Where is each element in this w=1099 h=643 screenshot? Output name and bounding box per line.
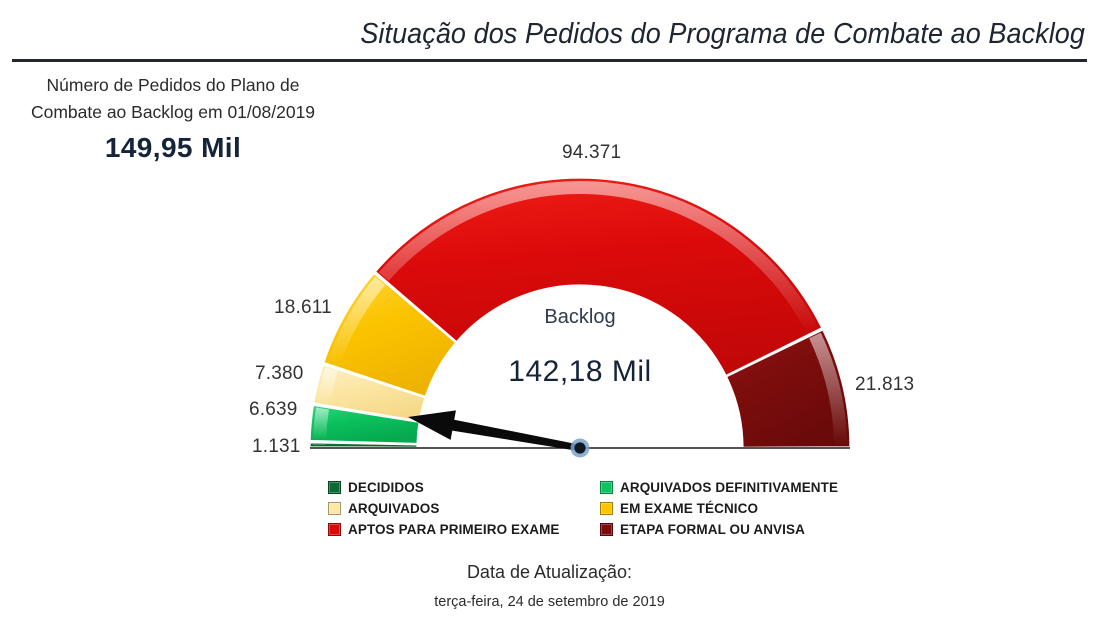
legend-swatch-icon <box>328 502 341 515</box>
gauge-label-arquivados: 7.380 <box>255 363 304 385</box>
gauge-needle <box>408 410 590 457</box>
legend-swatch-icon <box>600 523 613 536</box>
gauge-label-aptos-primeiro-exame: 94.371 <box>562 142 621 164</box>
gauge-hub-inner <box>574 442 585 453</box>
gauge-chart: 1.131 6.639 7.380 18.611 94.371 21.813 B… <box>0 0 1099 520</box>
legend-swatch-icon <box>328 481 341 494</box>
gauge-center-caption: Backlog 142,18 Mil <box>430 305 730 389</box>
legend-label: APTOS PARA PRIMEIRO EXAME <box>348 522 560 537</box>
legend-label: ARQUIVADOS <box>348 501 440 516</box>
legend-item[interactable]: ARQUIVADOS <box>328 499 600 518</box>
legend-swatch-icon <box>328 523 341 536</box>
legend-swatch-icon <box>600 481 613 494</box>
chart-legend: DECIDIDOSARQUIVADOS DEFINITIVAMENTEARQUI… <box>328 478 858 539</box>
footer-update-date: terça-feira, 24 de setembro de 2019 <box>0 594 1099 610</box>
gauge-center-title: Backlog <box>430 305 730 329</box>
gauge-needle-arrow <box>408 410 581 451</box>
legend-label: ARQUIVADOS DEFINITIVAMENTE <box>620 480 838 495</box>
legend-item[interactable]: ARQUIVADOS DEFINITIVAMENTE <box>600 478 858 497</box>
legend-swatch-icon <box>600 502 613 515</box>
gauge-label-arquivados-definitivamente: 6.639 <box>249 399 298 421</box>
gauge-label-etapa-formal-anvisa: 21.813 <box>855 374 914 396</box>
legend-item[interactable]: EM EXAME TÉCNICO <box>600 499 858 518</box>
footer-update-label: Data de Atualização: <box>0 562 1099 583</box>
gauge-label-em-exame-tecnico: 18.611 <box>274 297 332 319</box>
footer-block: Data de Atualização: terça-feira, 24 de … <box>0 562 1099 610</box>
legend-label: EM EXAME TÉCNICO <box>620 501 758 516</box>
legend-label: ETAPA FORMAL OU ANVISA <box>620 522 805 537</box>
gauge-label-decididos: 1.131 <box>252 436 301 458</box>
legend-item[interactable]: APTOS PARA PRIMEIRO EXAME <box>328 520 600 539</box>
legend-item[interactable]: ETAPA FORMAL OU ANVISA <box>600 520 858 539</box>
gauge-svg <box>0 0 1099 520</box>
legend-item[interactable]: DECIDIDOS <box>328 478 600 497</box>
legend-label: DECIDIDOS <box>348 480 424 495</box>
gauge-center-value: 142,18 Mil <box>430 355 730 389</box>
dashboard-canvas: Situação dos Pedidos do Programa de Comb… <box>0 0 1099 643</box>
